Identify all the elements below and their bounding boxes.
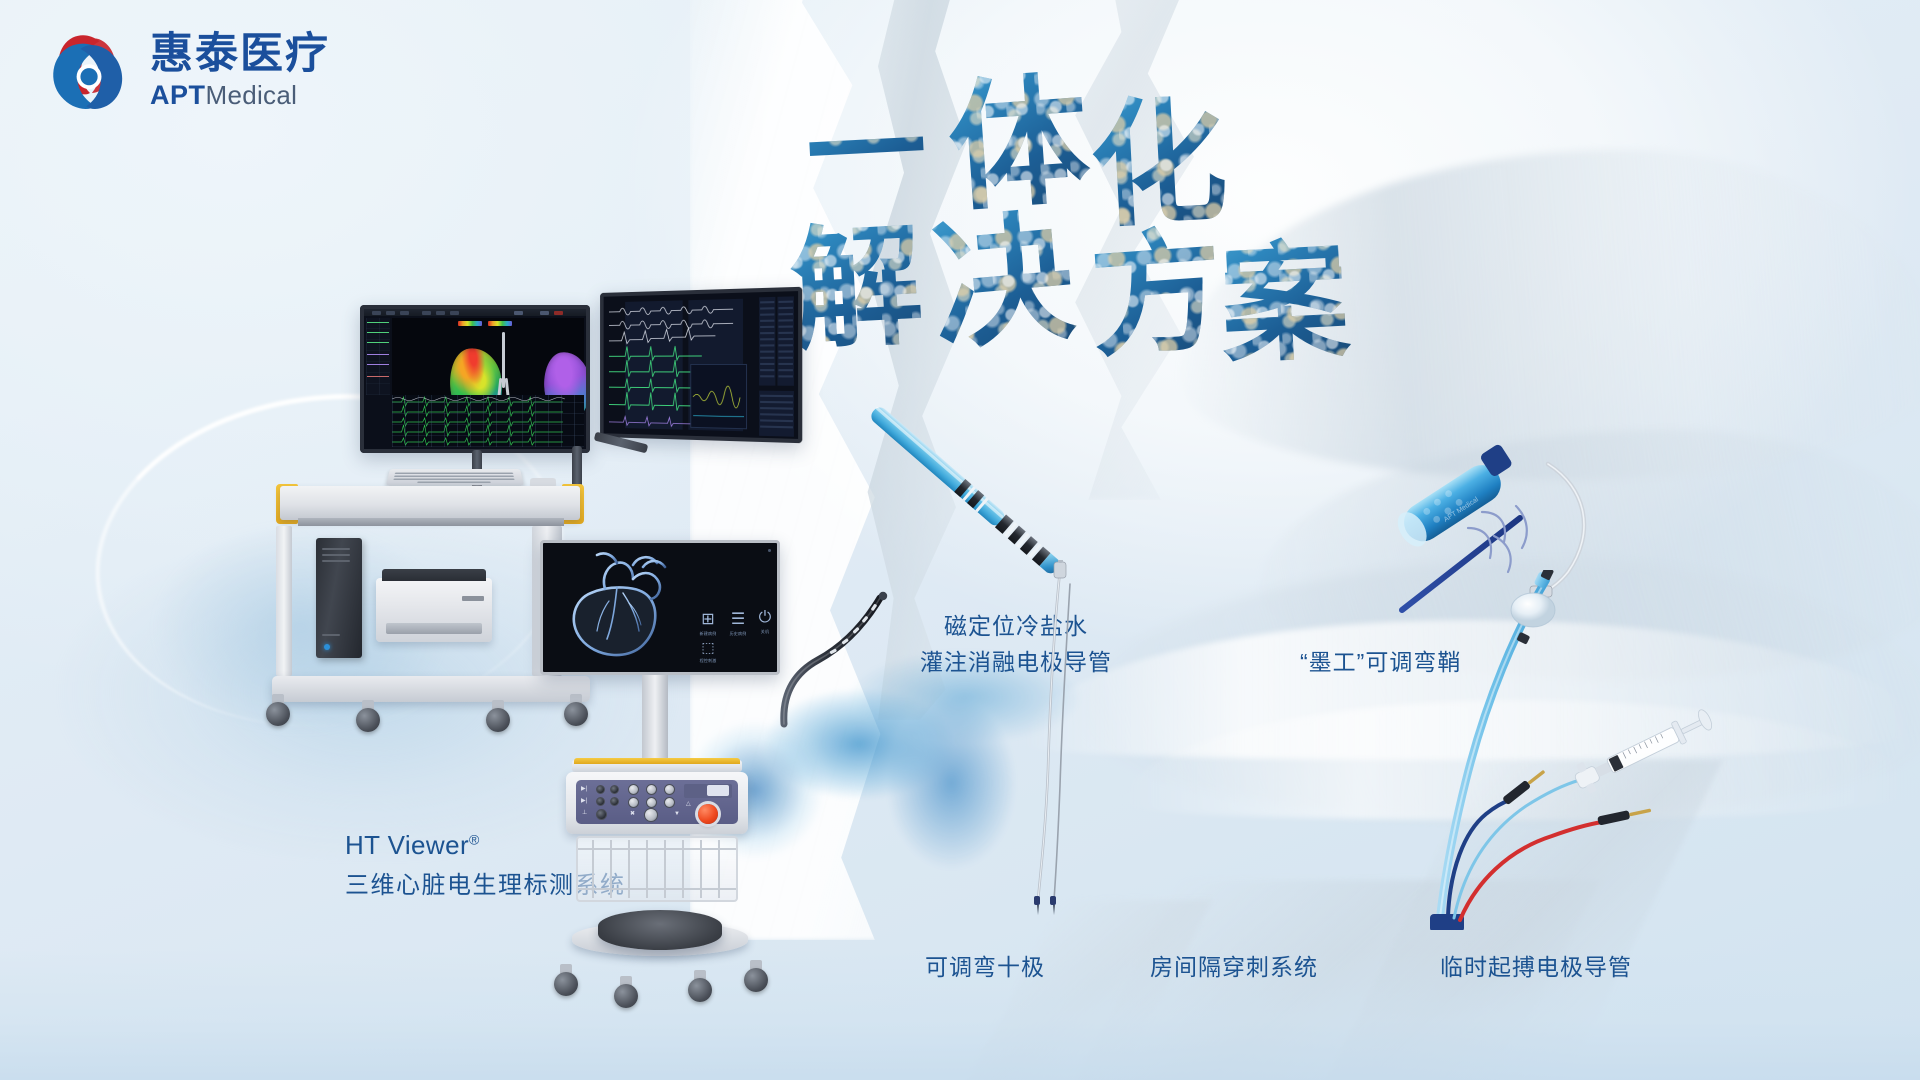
storage-basket <box>576 836 738 902</box>
open-folder-caption: 历史病例 <box>725 631 751 637</box>
headline-char-6: 方 <box>1083 184 1228 384</box>
brand-name-en-bold: APT <box>150 80 206 110</box>
ep-3d-map-viewport <box>392 318 584 395</box>
caster-wheel <box>744 960 768 990</box>
workstation-touchscreen[interactable]: ⊞ 新建病例 ☰ 历史病例 ⏻ 关机 ⬚ 程控刺激 <box>540 540 780 675</box>
brand-logo[interactable]: 惠泰医疗 APTMedical <box>42 20 342 120</box>
brand-name-en: APTMedical <box>150 80 330 111</box>
workstation-base <box>562 906 758 968</box>
caster-wheel <box>266 694 290 724</box>
generator-connector-panel: ▶| ▶| △ ⊥ ✖ ▼ <box>576 780 738 824</box>
ep-right-screen <box>604 291 798 439</box>
poster-canvas: 惠泰医疗 APTMedical 一 体 化 解 决 方 案 <box>0 0 1920 1080</box>
decapolar-catheter-label: 可调弯十极 <box>925 950 1045 984</box>
temporary-pacing-catheter-image <box>1430 570 1730 930</box>
ep-toolbar <box>364 309 586 316</box>
new-patient-icon[interactable]: ⊞ 新建病例 <box>695 609 721 637</box>
stimulator-caption: 程控刺激 <box>695 658 721 664</box>
ep-left-monitor <box>360 305 590 453</box>
caster-wheel <box>554 964 578 994</box>
brand-name-en-light: Medical <box>206 80 298 110</box>
trademark-symbol: ® <box>469 831 480 847</box>
ep-table-col-3 <box>759 391 794 437</box>
headline-char-4: 解 <box>785 179 927 377</box>
pacing-catheter-label: 临时起搏电极导管 <box>1440 950 1632 984</box>
headline-calligraphy: 一 体 化 解 决 方 案 <box>800 30 1360 330</box>
headline-char-5: 决 <box>923 164 1080 377</box>
cart-worktop-edge <box>298 518 564 526</box>
caster-wheel <box>486 700 510 730</box>
ep-right-monitor <box>600 287 802 443</box>
transseptal-system-label: 房间隔穿刺系统 <box>1150 950 1318 984</box>
caster-wheel <box>356 700 380 730</box>
brand-name-cn: 惠泰医疗 <box>150 30 330 78</box>
open-folder-icon[interactable]: ☰ 历史病例 <box>725 609 751 637</box>
decapolar-catheter-image <box>770 590 900 940</box>
ep-table-col-1 <box>759 297 775 386</box>
cart-worktop <box>280 486 580 520</box>
brand-wordmark: 惠泰医疗 APTMedical <box>150 30 330 111</box>
transseptal-system-image <box>1000 560 1120 940</box>
headline-char-7: 案 <box>1215 197 1353 388</box>
stimulator-generator: ▶| ▶| △ ⊥ ✖ ▼ <box>566 772 748 834</box>
ep-colorbar-right <box>488 321 512 326</box>
ep-secondary-panel <box>690 364 747 429</box>
workstation-shelf-accent <box>574 758 740 764</box>
ep-table-col-2 <box>777 296 794 385</box>
screen-indicator <box>768 549 771 552</box>
emergency-stop-button[interactable] <box>698 804 718 824</box>
apt-medical-logo-icon <box>42 26 138 114</box>
computer-tower <box>316 538 362 658</box>
heart-anatomy-illustration <box>547 547 697 669</box>
keyboard[interactable] <box>386 469 524 485</box>
stimulator-icon[interactable]: ⬚ 程控刺激 <box>695 639 721 664</box>
ep-channel-list <box>366 318 390 395</box>
workstation-column <box>642 675 668 763</box>
printer <box>376 578 492 642</box>
new-patient-caption: 新建病例 <box>695 631 721 637</box>
caster-wheel <box>688 970 712 1000</box>
ep-left-screen <box>364 309 586 449</box>
ep-ecg-strip <box>392 395 584 447</box>
caster-wheel <box>614 976 638 1006</box>
ep-colorbar-left <box>458 321 482 326</box>
